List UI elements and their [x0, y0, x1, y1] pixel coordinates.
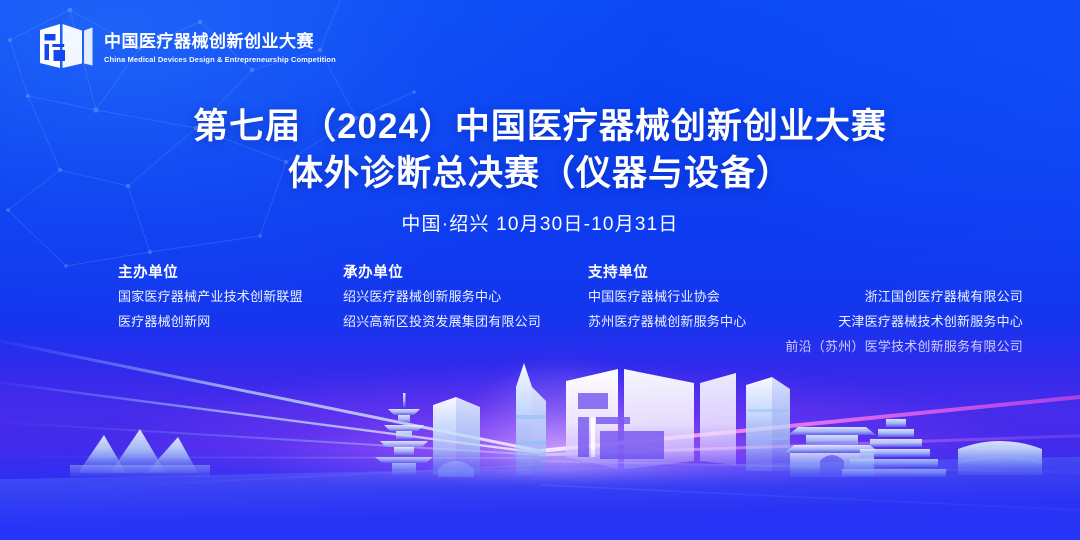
- supporter-item: 浙江国创医疗器械有限公司: [763, 290, 1023, 303]
- event-banner: 中国医疗器械创新创业大赛 China Medical Devices Desig…: [0, 0, 1080, 540]
- open-book-door-logo-icon: [38, 22, 94, 72]
- brand-name-cn: 中国医疗器械创新创业大赛: [104, 32, 336, 52]
- hero-titles: 第七届（2024）中国医疗器械创新创业大赛 体外诊断总决赛（仪器与设备） 中国·…: [0, 104, 1080, 236]
- city-skyline-scene: [0, 325, 1080, 540]
- organizer-heading: 主办单位: [118, 266, 343, 281]
- brand-logo-lockup[interactable]: 中国医疗器械创新创业大赛 China Medical Devices Desig…: [38, 22, 336, 72]
- supporter-heading: 支持单位: [588, 266, 763, 281]
- brand-name-en: China Medical Devices Design & Entrepren…: [104, 55, 336, 64]
- organizer-item: 国家医疗器械产业技术创新联盟: [118, 290, 343, 303]
- hero-location-date: 中国·绍兴 10月30日-10月31日: [0, 209, 1080, 236]
- hero-title-line-1: 第七届（2024）中国医疗器械创新创业大赛: [0, 104, 1080, 151]
- co-organizer-heading: 承办单位: [343, 266, 588, 281]
- co-organizer-item: 绍兴医疗器械创新服务中心: [343, 290, 588, 303]
- supporter-item: 中国医疗器械行业协会: [588, 290, 763, 303]
- hero-title-line-2: 体外诊断总决赛（仪器与设备）: [0, 151, 1080, 198]
